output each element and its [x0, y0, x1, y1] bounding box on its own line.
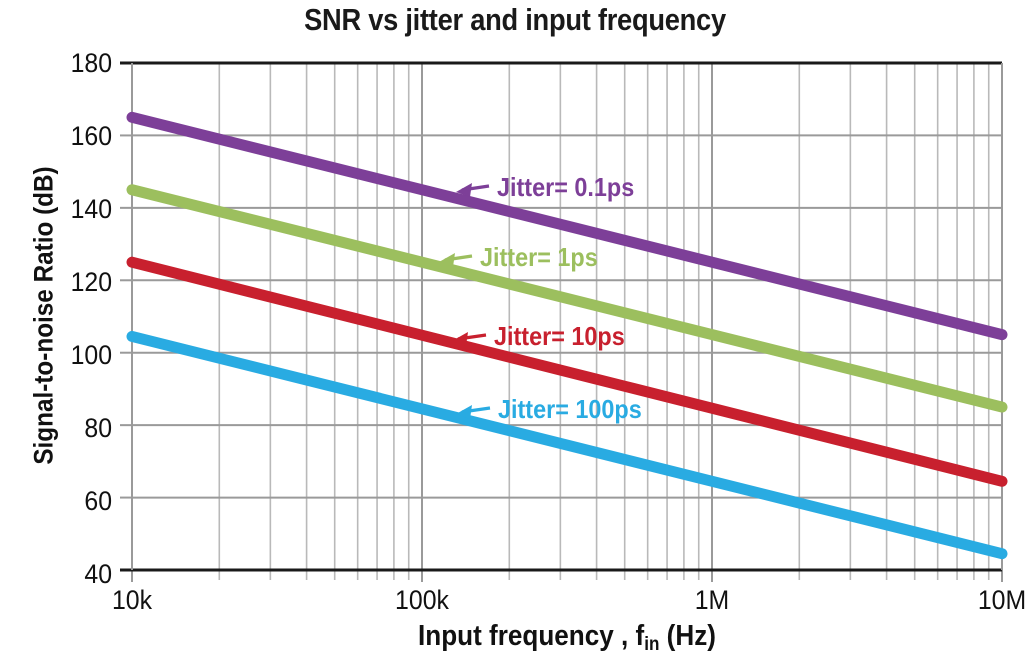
series-annotation-1: Jitter= 1ps [480, 242, 598, 273]
annotation-arrows [439, 183, 490, 419]
chart-figure: SNR vs jitter and input frequency Signal… [0, 0, 1030, 669]
series-annotation-3: Jitter= 100ps [498, 394, 642, 425]
series-annotation-2: Jitter= 10ps [494, 321, 625, 352]
series-annotation-0: Jitter= 0.1ps [497, 172, 634, 203]
grid-major-vertical-lines [132, 63, 1002, 570]
